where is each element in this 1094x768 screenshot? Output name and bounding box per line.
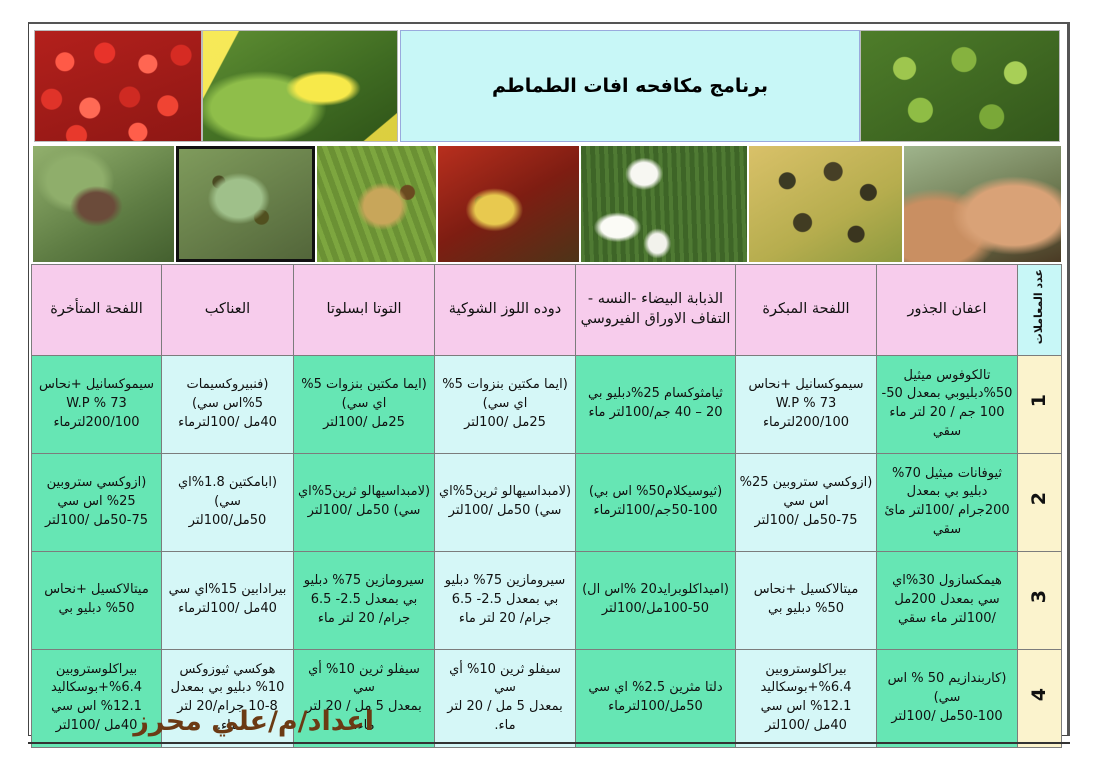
header-treatment-count: عدد المعاملات [1018,265,1062,356]
row-number-cell: 2 [1018,453,1062,551]
header-whitefly: الذبابة البيضاء -النسه - التفاف الاوراق … [576,265,736,356]
cell-r3-root-rot: هيمكسازول 30%اي سي بمعدل 200مل /100لتر م… [877,551,1018,649]
cell-r4-bollworm: سيفلو ثرين 10% أي سي بمعدل 5 مل / 20 لتر… [435,649,576,747]
header-mites: العناكب [162,265,294,356]
row-number-cell: 3 [1018,551,1062,649]
cell-r1-root-rot: تالكوفوس ميثيل 50%دبليوبي بمعدل 50-100 ج… [877,355,1018,453]
page-root: برنامج مكافحه افات الطماطم عدد المعاملات [0,0,1094,768]
row-number: 2 [1026,492,1054,505]
late-blight-photo [904,146,1061,262]
cell-r2-whitefly: (ثيوسيكلام50% اس بي) 50-100جم/100لترماء [576,453,736,551]
cell-r2-tuta: (لامبداسيهالو ثرين5%اي سي) 50مل /100لتر [294,453,435,551]
green-tomatoes-photo [860,30,1060,142]
treatment-table: عدد المعاملات اعفان الجذور اللفحة المبكر… [31,264,1062,748]
pest-photo-strip [32,146,1062,262]
row-number: 4 [1026,688,1054,701]
header-bollworm: دوده اللوز الشوكية [435,265,576,356]
table-row: 3 هيمكسازول 30%اي سي بمعدل 200مل /100لتر… [32,551,1062,649]
cell-r1-bollworm: (ايما مكتين بنزوات 5% اي سي) 25مل /100لت… [435,355,576,453]
header-treatment-count-label: عدد المعاملات [1032,269,1047,344]
row-number-cell: 4 [1018,649,1062,747]
cell-r2-root-rot: ثيوفانات ميثيل 70% دبليو بي بمعدل 200جرا… [877,453,1018,551]
cell-r3-tuta: سيرومازين 75% دبليو بي بمعدل 2.5- 6.5 جر… [294,551,435,649]
table-body: 1 تالكوفوس ميثيل 50%دبليوبي بمعدل 50-100… [32,355,1062,747]
early-blight-photo [176,146,315,262]
header-early-blight: اللفحة المبكرة [736,265,877,356]
cell-r3-bollworm: سيرومازين 75% دبليو بي بمعدل 2.5- 6.5 جر… [435,551,576,649]
header-tuta: التوتا ابسلوتا [294,265,435,356]
cell-r1-tuta: (ايما مكتين بنزوات 5% اي سي) 25مل /100لت… [294,355,435,453]
cell-r2-late-blight: (ازوكسي ستروبين 25% اس سي 50-75مل /100لت… [32,453,162,551]
cell-r1-mites: (فنبيروكسيمات 5%اس سي) 40مل /100لترماء [162,355,294,453]
row-number-cell: 1 [1018,355,1062,453]
tomatoes-ripe-photo [34,30,202,142]
header-late-blight: اللفحة المتأخرة [32,265,162,356]
cell-r2-early-blight: (ازوكسي ستروبين 25% اس سي 50-75مل /100لت… [736,453,877,551]
author-signature: اعداد/م/علي محرز [133,706,374,737]
signature-underline [28,742,1070,744]
table-row: 2 ثيوفانات ميثيل 70% دبليو بي بمعدل 200ج… [32,453,1062,551]
tuta-absoluta-photo [749,146,902,262]
root-rot-photo [33,146,174,262]
cell-r4-whitefly: دلتا مثرين 2.5% اي سي 50مل/100لترماء [576,649,736,747]
row-number: 3 [1026,590,1054,603]
tomato-flower-photo [202,30,398,142]
cell-r1-late-blight: سيموكسانيل +نحاس 73 % W.P 200/100لترماء [32,355,162,453]
cell-r2-bollworm: (لامبداسيهالو ثرين5%اي سي) 50مل /100لتر [435,453,576,551]
table-header-row: عدد المعاملات اعفان الجذور اللفحة المبكر… [32,265,1062,356]
caterpillar-photo [581,146,748,262]
header-banner: برنامج مكافحه افات الطماطم [32,30,1062,142]
table-row: 1 تالكوفوس ميثيل 50%دبليوبي بمعدل 50-100… [32,355,1062,453]
cell-r1-early-blight: سيموكسانيل +نحاس 73 % W.P 200/100لترماء [736,355,877,453]
cell-r3-mites: بيرادابين 15%اي سي 40مل /100لترماء [162,551,294,649]
cell-r3-early-blight: ميتالاكسيل +نحاس 50% دبليو بي [736,551,877,649]
cell-r3-late-blight: ميتالاكسيل +نحاس 50% دبليو بي [32,551,162,649]
title-panel: برنامج مكافحه افات الطماطم [400,30,860,142]
cell-r2-mites: (ابامكتين 1.8%اي سي) 50مل/100لتر [162,453,294,551]
cell-r4-early-blight: بيراكلوستروبين 6.4%+بوسكاليد 12.1% اس سي… [736,649,877,747]
whitefly-photo [317,146,436,262]
cell-r4-root-rot: (كاربندازيم 50 % اس سي) 50-100مل /100لتر [877,649,1018,747]
cell-r1-whitefly: ثيامثوكسام 25%دبليو بي 20 – 40 جم/100لتر… [576,355,736,453]
treatment-table-wrap: عدد المعاملات اعفان الجذور اللفحة المبكر… [32,264,1062,748]
cell-r3-whitefly: (اميداكلوبرايد20 %اس ال) 50-100مل/100لتر [576,551,736,649]
bollworm-photo [438,146,579,262]
header-root-rot: اعفان الجذور [877,265,1018,356]
row-number: 1 [1026,394,1054,407]
page-title: برنامج مكافحه افات الطماطم [492,75,768,97]
